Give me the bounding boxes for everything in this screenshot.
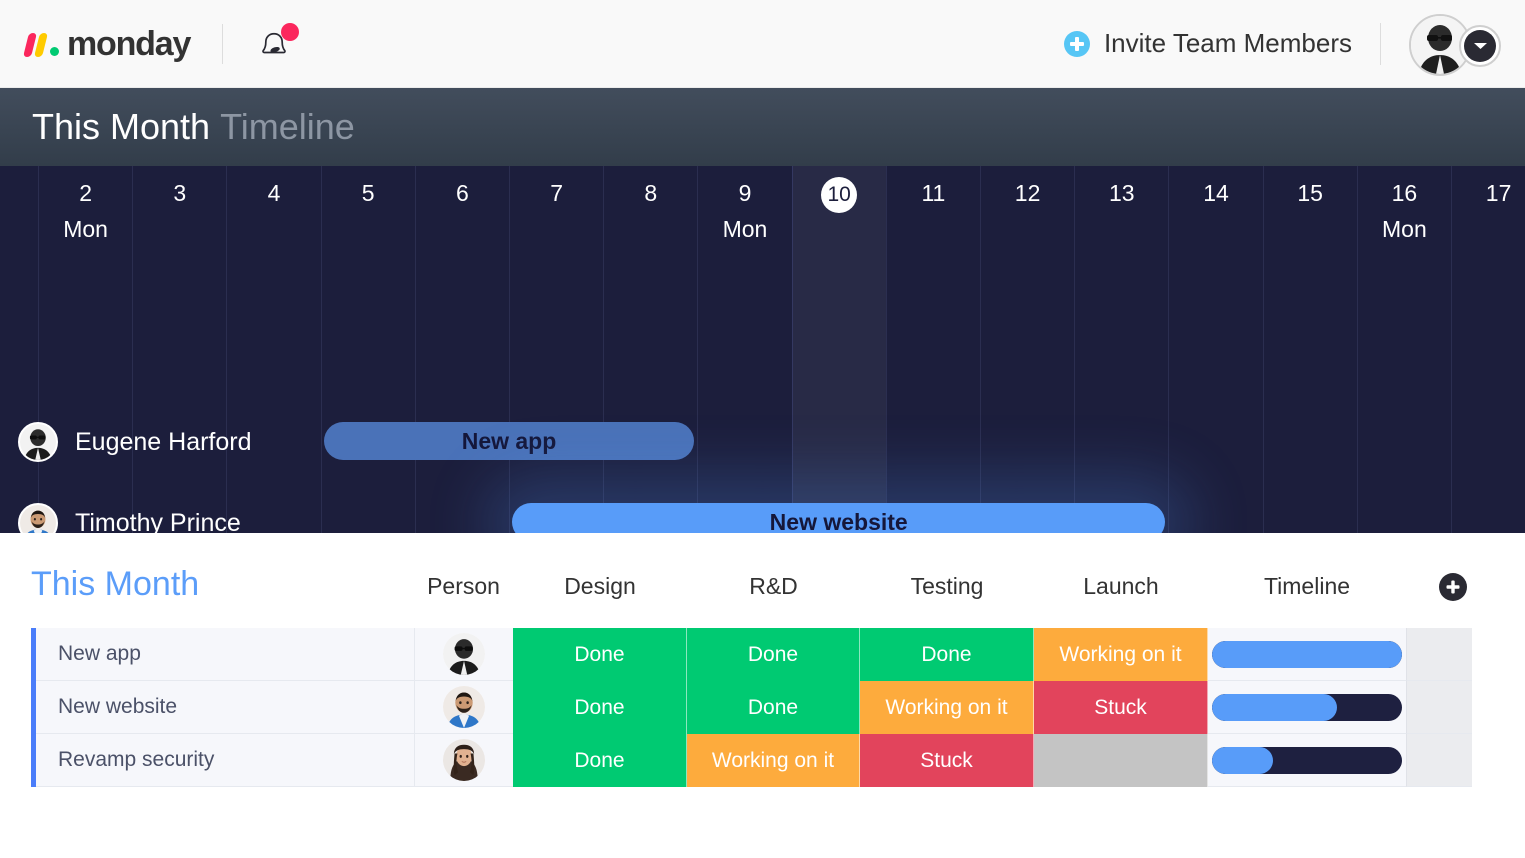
progress-fill bbox=[1212, 641, 1402, 668]
day-number: 9 bbox=[698, 180, 791, 207]
gantt-task-bar[interactable]: New app bbox=[324, 422, 695, 460]
avatar bbox=[18, 503, 58, 533]
board-header: This Month PersonDesignR&DTestingLaunchT… bbox=[0, 541, 1525, 628]
day-number: 11 bbox=[887, 180, 980, 207]
plus-icon bbox=[1445, 579, 1461, 595]
status-cell-design[interactable]: Done bbox=[513, 628, 687, 681]
timeline-day-column-15[interactable]: 15 bbox=[1263, 166, 1357, 533]
person-name: Timothy Prince bbox=[75, 509, 241, 534]
today-indicator: 10 bbox=[821, 177, 857, 213]
status-cell-testing[interactable]: Done bbox=[860, 628, 1034, 681]
column-header-testing[interactable]: Testing bbox=[860, 573, 1034, 600]
row-name-cell[interactable]: New website bbox=[36, 681, 414, 734]
table-row[interactable]: Revamp securityDoneWorking on itStuck bbox=[31, 734, 1472, 787]
status-cell-design[interactable]: Done bbox=[513, 734, 687, 787]
avatar bbox=[443, 739, 485, 781]
row-person-cell[interactable] bbox=[414, 681, 513, 734]
status-cell-launch[interactable] bbox=[1034, 734, 1208, 787]
timeline-day-column-12[interactable]: 12 bbox=[980, 166, 1074, 533]
day-number: 6 bbox=[416, 180, 509, 207]
row-person-cell[interactable] bbox=[414, 734, 513, 787]
timeline-header-band: This MonthTimeline bbox=[0, 88, 1525, 166]
status-cell-rd[interactable]: Done bbox=[687, 681, 860, 734]
notification-badge bbox=[281, 23, 299, 41]
column-header-timeline[interactable]: Timeline bbox=[1208, 573, 1406, 600]
column-header-launch[interactable]: Launch bbox=[1034, 573, 1208, 600]
status-cell-launch[interactable]: Working on it bbox=[1034, 628, 1208, 681]
invite-team-members-label: Invite Team Members bbox=[1104, 28, 1352, 59]
day-number: 5 bbox=[322, 180, 415, 207]
account-dropdown-button[interactable] bbox=[1459, 25, 1501, 67]
plus-circle-icon bbox=[1064, 31, 1090, 57]
timeline-day-column-13[interactable]: 13 bbox=[1074, 166, 1168, 533]
row-name-cell[interactable]: Revamp security bbox=[36, 734, 414, 787]
timeline-day-column-7[interactable]: 7 bbox=[509, 166, 603, 533]
timeline-day-column-4[interactable]: 4 bbox=[226, 166, 320, 533]
page-title-primary: This Month bbox=[32, 106, 210, 147]
status-cell-launch[interactable]: Stuck bbox=[1034, 681, 1208, 734]
timeline-progress-cell[interactable] bbox=[1208, 681, 1406, 734]
avatar bbox=[18, 422, 58, 462]
board-table: This Month PersonDesignR&DTestingLaunchT… bbox=[0, 541, 1525, 858]
day-number: 8 bbox=[604, 180, 697, 207]
topbar-divider bbox=[222, 24, 223, 64]
day-weekday-label: Mon bbox=[39, 216, 132, 243]
day-number: 7 bbox=[510, 180, 603, 207]
timeline-day-column-10[interactable]: 10 bbox=[792, 166, 886, 533]
timeline-day-column-6[interactable]: 6 bbox=[415, 166, 509, 533]
page-title: This MonthTimeline bbox=[32, 109, 355, 145]
day-weekday-label: Mon bbox=[698, 216, 791, 243]
gantt-person-row[interactable]: Eugene Harford bbox=[18, 422, 252, 462]
status-cell-rd[interactable]: Working on it bbox=[687, 734, 860, 787]
column-header-design[interactable]: Design bbox=[513, 573, 687, 600]
add-column-button[interactable] bbox=[1439, 573, 1467, 601]
timeline-day-column-14[interactable]: 14 bbox=[1168, 166, 1262, 533]
chevron-down-icon bbox=[1464, 30, 1496, 62]
gantt-task-bar[interactable]: New website bbox=[512, 503, 1165, 533]
page-title-secondary: Timeline bbox=[220, 106, 355, 147]
timeline-day-column-17[interactable]: 17 bbox=[1451, 166, 1525, 533]
timeline-day-column-9[interactable]: 9Mon bbox=[697, 166, 791, 533]
day-number: 13 bbox=[1075, 180, 1168, 207]
avatar bbox=[443, 686, 485, 728]
row-name-cell[interactable]: New app bbox=[36, 628, 414, 681]
timeline-day-column-5[interactable]: 5 bbox=[321, 166, 415, 533]
progress-track bbox=[1212, 641, 1402, 668]
day-number: 17 bbox=[1452, 180, 1525, 207]
column-header-person[interactable]: Person bbox=[414, 573, 513, 600]
account-menu[interactable] bbox=[1409, 13, 1501, 75]
person-name: Eugene Harford bbox=[75, 428, 252, 457]
invite-team-members-button[interactable]: Invite Team Members bbox=[1064, 28, 1352, 59]
day-weekday-label: Mon bbox=[1358, 216, 1451, 243]
status-cell-testing[interactable]: Working on it bbox=[860, 681, 1034, 734]
timeline-progress-cell[interactable] bbox=[1208, 734, 1406, 787]
column-header-rd[interactable]: R&D bbox=[687, 573, 860, 600]
table-row[interactable]: New appDoneDoneDoneWorking on it bbox=[31, 628, 1472, 681]
logo-marks-icon bbox=[26, 31, 59, 57]
notifications-button[interactable] bbox=[257, 23, 299, 65]
timeline-day-column-3[interactable]: 3 bbox=[132, 166, 226, 533]
day-number: 4 bbox=[227, 180, 320, 207]
topbar-divider-right bbox=[1380, 23, 1381, 65]
day-number: 2 bbox=[39, 180, 132, 207]
empty-trailing-cell[interactable] bbox=[1406, 681, 1472, 734]
logo-wordmark: monday bbox=[67, 27, 190, 61]
timeline-progress-cell[interactable] bbox=[1208, 628, 1406, 681]
row-person-cell[interactable] bbox=[414, 628, 513, 681]
empty-trailing-cell[interactable] bbox=[1406, 628, 1472, 681]
progress-fill bbox=[1212, 747, 1273, 774]
progress-fill bbox=[1212, 694, 1337, 721]
timeline-day-column-2[interactable]: 2Mon bbox=[38, 166, 132, 533]
top-navigation-bar: monday Invite Team Members bbox=[0, 0, 1525, 88]
day-number: 16 bbox=[1358, 180, 1451, 207]
day-number: 14 bbox=[1169, 180, 1262, 207]
board-title: This Month bbox=[31, 565, 199, 604]
day-number: 12 bbox=[981, 180, 1074, 207]
gantt-timeline: 2Mon3456789Mon10111213141516Mon17 Eugene… bbox=[0, 166, 1525, 533]
day-number: 15 bbox=[1264, 180, 1357, 207]
timeline-day-column-16[interactable]: 16Mon bbox=[1357, 166, 1451, 533]
progress-track bbox=[1212, 694, 1402, 721]
avatar bbox=[443, 633, 485, 675]
table-row[interactable]: New websiteDoneDoneWorking on itStuck bbox=[31, 681, 1472, 734]
status-cell-testing[interactable]: Stuck bbox=[860, 734, 1034, 787]
gantt-person-row[interactable]: Timothy Prince bbox=[18, 503, 241, 533]
monday-logo[interactable]: monday bbox=[26, 27, 190, 61]
empty-trailing-cell[interactable] bbox=[1406, 734, 1472, 787]
day-number: 3 bbox=[133, 180, 226, 207]
status-cell-design[interactable]: Done bbox=[513, 681, 687, 734]
progress-track bbox=[1212, 747, 1402, 774]
timeline-day-column-8[interactable]: 8 bbox=[603, 166, 697, 533]
status-cell-rd[interactable]: Done bbox=[687, 628, 860, 681]
timeline-day-column-11[interactable]: 11 bbox=[886, 166, 980, 533]
